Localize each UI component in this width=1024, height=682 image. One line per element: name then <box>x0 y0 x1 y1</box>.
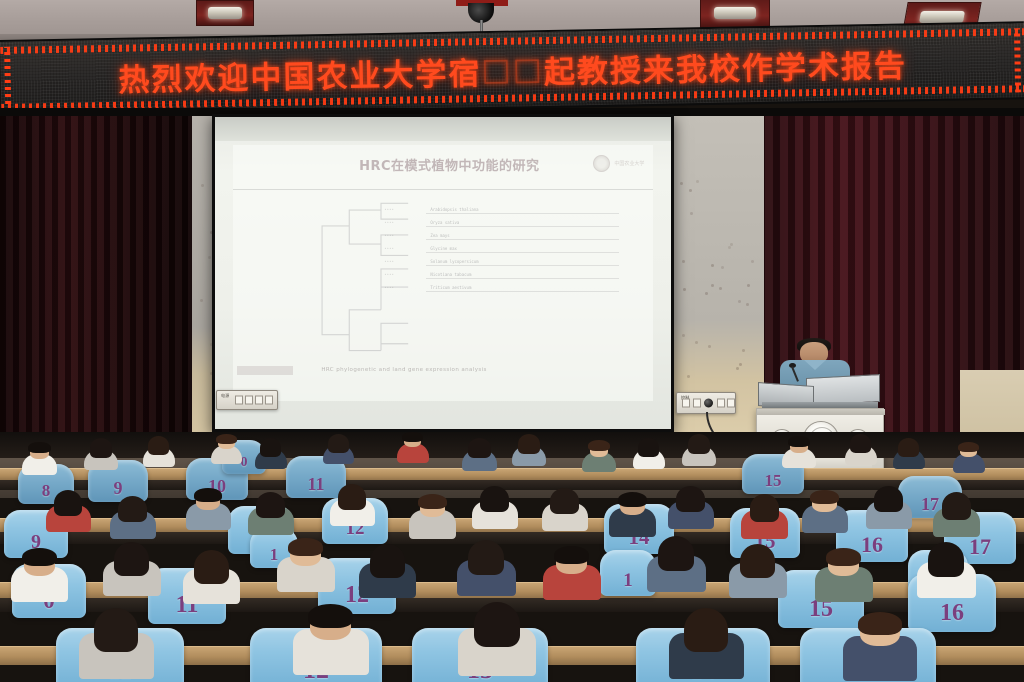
lectern-top-edge <box>757 409 885 415</box>
audience-hair <box>118 496 147 522</box>
wall-speck <box>711 284 714 287</box>
audience-hair <box>468 438 491 458</box>
slide-row-tag: •••• <box>384 272 394 277</box>
light-switch[interactable] <box>727 399 735 408</box>
projection-screen: HRC在模式植物中功能的研究 中国农业大学 <box>215 117 671 429</box>
projection-screen-frame: HRC在模式植物中功能的研究 中国农业大学 <box>212 114 674 432</box>
wall-speck <box>711 264 714 267</box>
audience-hair <box>850 434 871 453</box>
seat-number: 9 <box>114 479 123 497</box>
audience-hair <box>750 494 779 522</box>
light-switch[interactable] <box>265 396 273 405</box>
audience-hair <box>942 492 971 520</box>
screen-top-band <box>215 117 671 141</box>
slide-row-tag: •••• <box>384 285 394 290</box>
audience-hair <box>740 544 775 578</box>
wall-speck <box>739 363 742 366</box>
audience-hair <box>148 436 169 455</box>
slide-divider <box>233 189 653 190</box>
wall-speck <box>695 341 698 344</box>
wall-speck <box>738 300 741 303</box>
wall-speck <box>683 288 686 291</box>
audience-hair <box>688 434 710 454</box>
audience-hair <box>114 542 149 576</box>
light-switch[interactable] <box>693 399 701 408</box>
slide-row-label: Oryza sativa <box>430 220 459 225</box>
slide-university-logo: 中国农业大学 <box>593 155 644 172</box>
slide-logo-label: 中国农业大学 <box>614 161 644 167</box>
wall-speck <box>680 182 683 185</box>
audience-hair <box>418 494 447 509</box>
slide-row-line <box>426 265 619 266</box>
presentation-slide: HRC在模式植物中功能的研究 中国农业大学 <box>233 145 653 401</box>
audience-hair <box>260 438 281 457</box>
audience-hair <box>676 486 705 512</box>
stage-curtain-left <box>0 116 196 456</box>
led-text-after: 起教授来我校作学术报告 <box>544 40 908 92</box>
audience-hair <box>22 548 57 566</box>
wall-speck <box>689 189 692 192</box>
wall-speck <box>200 299 203 302</box>
wall-speck <box>736 367 739 370</box>
slide-row-label: Glycine max <box>430 246 457 251</box>
audience-hair <box>810 490 839 504</box>
wall-speck <box>682 260 685 263</box>
led-text-obscured: □□ <box>481 51 544 88</box>
wall-control-panel-right[interactable]: 控制 <box>676 392 736 414</box>
slide-row-line <box>426 239 619 240</box>
audience-hair <box>788 436 810 447</box>
seat-number: 1 <box>270 546 279 563</box>
wall-speck <box>208 256 211 259</box>
wall-speck <box>721 266 724 269</box>
wall-switch-panel-left[interactable]: 电源 <box>216 390 278 410</box>
audience-hair <box>618 492 647 507</box>
audience-hair <box>958 442 979 452</box>
audience-seating-area: 8910011151791111214151617011121115161112… <box>0 432 1024 682</box>
slide-row-tag: •••• <box>384 246 394 251</box>
light-switch[interactable] <box>717 399 725 408</box>
audience-hair <box>588 440 610 451</box>
seat-number: 17 <box>969 536 991 558</box>
slide-row-label: Arabidopsis thaliana <box>430 207 478 212</box>
audience-hair <box>928 542 964 577</box>
wall-speck <box>746 303 749 306</box>
lecture-hall-photo: 热烈欢迎中国农业大学宿□□起教授来我校作学术报告 HRC在模式植物中功能的研究 … <box>0 0 1024 682</box>
audience-hair <box>338 484 366 510</box>
slide-row-tag: •••• <box>384 207 394 212</box>
wall-speck <box>696 180 699 183</box>
light-switch[interactable] <box>255 396 263 405</box>
wall-speck <box>719 287 722 290</box>
row-shadow <box>0 480 1024 490</box>
audience-hair <box>308 604 353 628</box>
wall-speck <box>687 375 690 378</box>
slide-data-rows: Arabidopsis thaliana••••Oryza sativa••••… <box>233 201 653 365</box>
audience-hair <box>554 546 589 564</box>
slide-caption: HRC phylogenetic and land gene expressio… <box>321 367 487 373</box>
slide-row-line <box>426 278 619 279</box>
audience-hair <box>874 486 903 512</box>
slide-row-label: Zea mays <box>430 233 449 238</box>
audience-hair <box>684 608 728 652</box>
volume-knob[interactable] <box>704 399 713 408</box>
slide-row-label: Solanum lycopersicum <box>430 259 478 264</box>
seat-number: 16 <box>861 534 883 556</box>
audience-hair <box>370 544 405 578</box>
audience-hair <box>94 608 138 652</box>
slide-row-tag: •••• <box>384 233 394 238</box>
audience-hair <box>474 602 520 647</box>
audience-hair <box>288 538 323 556</box>
wall-speck <box>751 260 754 263</box>
audience-hair <box>328 434 349 453</box>
wall-speck <box>682 334 685 337</box>
seat-number: 11 <box>307 475 324 493</box>
audience-hair <box>54 490 82 516</box>
slide-row-label: Triticum aestivum <box>430 285 471 290</box>
audience-hair <box>638 438 659 457</box>
slide-row-line <box>426 213 619 214</box>
university-seal-icon <box>593 155 610 172</box>
seat-number: 15 <box>765 472 782 489</box>
light-switch[interactable] <box>235 396 243 405</box>
audience-hair <box>858 612 902 635</box>
wall-speck <box>747 284 750 287</box>
audience-hair <box>480 486 509 512</box>
wall-speck <box>705 292 708 295</box>
audience-hair <box>194 550 229 584</box>
wall-speck <box>690 212 693 215</box>
slide-row-tag: •••• <box>384 220 394 225</box>
light-switch[interactable] <box>682 399 690 408</box>
ceiling-light-icon <box>196 0 254 26</box>
slide-row-line <box>426 252 619 253</box>
wall-speck <box>708 345 711 348</box>
slide-badge <box>237 366 293 375</box>
led-text-before: 热烈欢迎中国农业大学宿 <box>118 48 482 100</box>
wall-speck <box>728 246 731 249</box>
audience-hair <box>90 438 112 458</box>
seat-number: 16 <box>940 601 964 625</box>
audience-hair <box>256 492 285 518</box>
slide-row-line <box>426 226 619 227</box>
seat-number: 1 <box>623 571 633 590</box>
audience-hair <box>402 432 423 442</box>
seat-number: 17 <box>921 495 939 513</box>
audience-hair <box>898 438 919 457</box>
slide-row-tag: •••• <box>384 259 394 264</box>
audience-hair <box>216 434 237 444</box>
light-switch[interactable] <box>245 396 253 405</box>
slide-row-label: Nicotiana tabacum <box>430 272 471 277</box>
audience-hair <box>550 488 579 514</box>
audience-hair <box>826 548 861 566</box>
ceiling-light-icon <box>700 0 770 28</box>
audience-hair <box>518 434 540 454</box>
wall-speck <box>201 184 204 187</box>
slide-title: HRC在模式植物中功能的研究 <box>359 155 539 174</box>
slide-row-line <box>426 291 619 292</box>
wall-speck <box>742 349 745 352</box>
audience-hair <box>194 488 222 502</box>
seat-number: 8 <box>42 482 51 499</box>
audience-hair <box>658 536 694 571</box>
audience-hair <box>28 442 51 453</box>
panel-label-left: 电源 <box>221 393 230 399</box>
audience-hair <box>468 540 504 575</box>
